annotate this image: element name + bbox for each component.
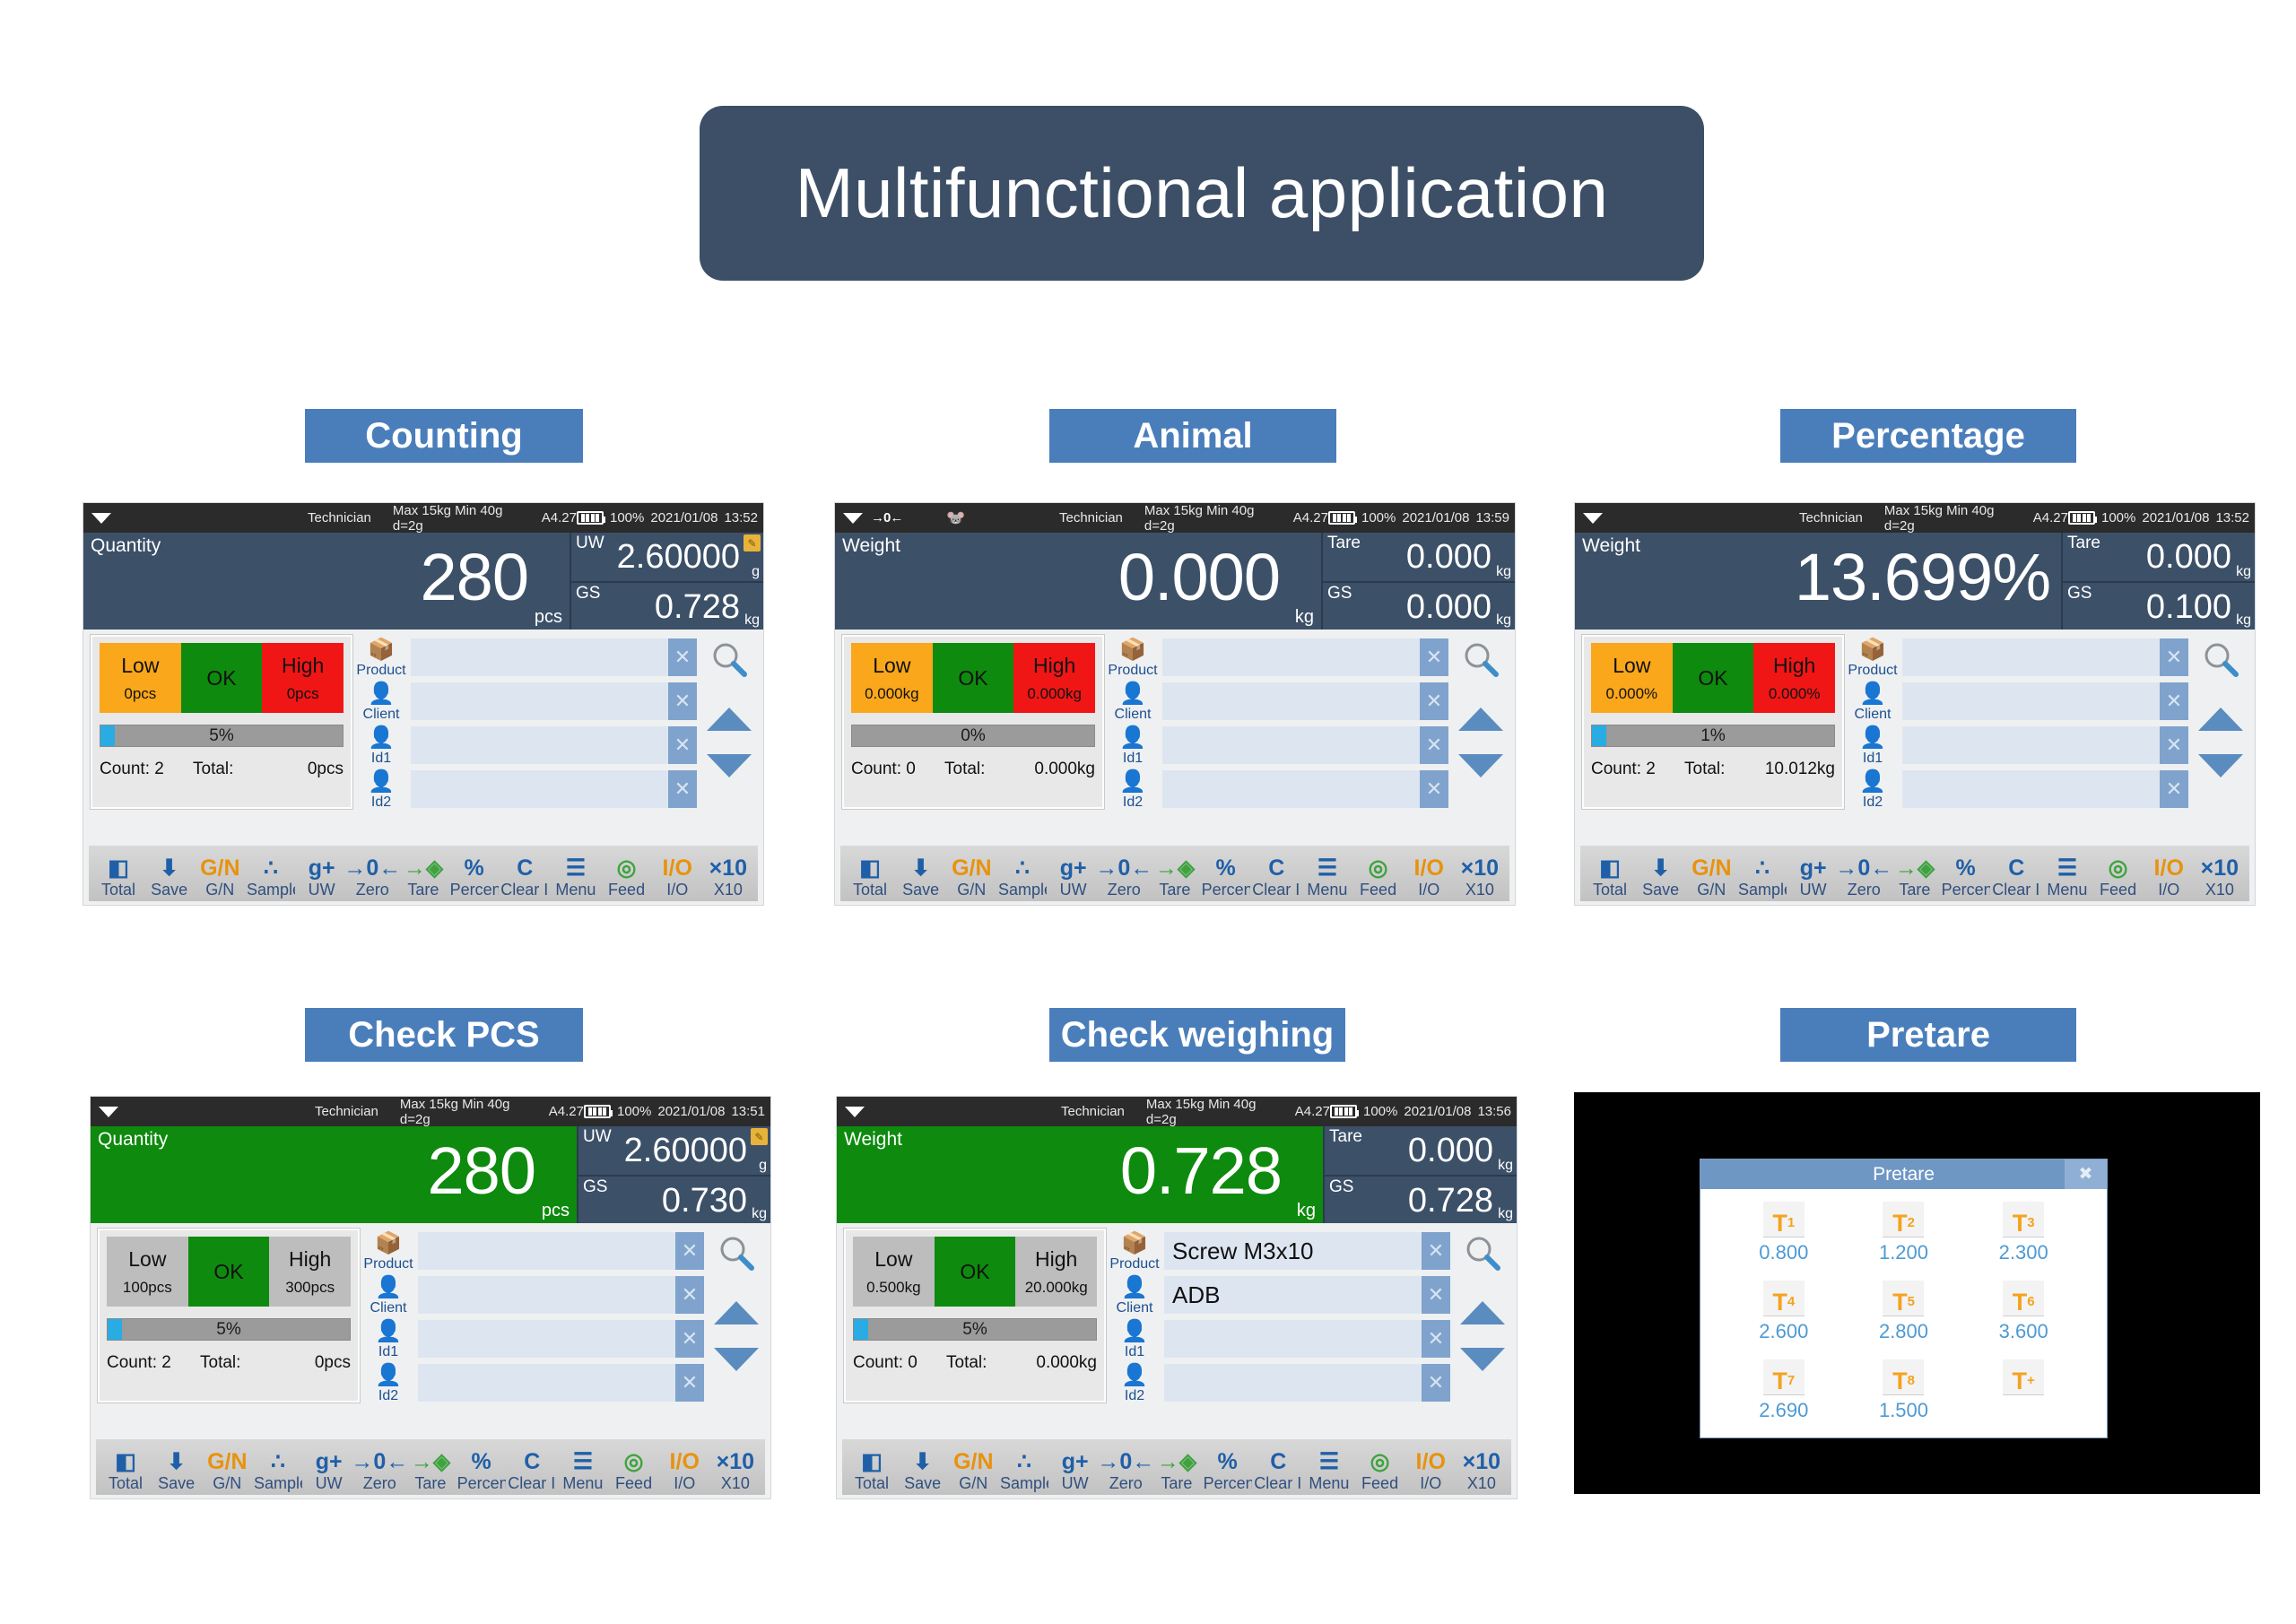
toolbar-button-percent[interactable]: %Percent [450, 855, 499, 899]
toolbar-button-save[interactable]: ⬇Save [1637, 855, 1685, 899]
uw-icon: g+ [1051, 1448, 1100, 1475]
toolbar-button-io[interactable]: I/OI/O [1405, 855, 1453, 899]
save-icon: ⬇ [899, 1448, 947, 1475]
pretare-value: 2.300 [1999, 1241, 2048, 1264]
arrow-down-icon[interactable] [1458, 754, 1503, 777]
sample-icon: ∴ [1000, 1448, 1048, 1475]
clear-id-icon: C [508, 1448, 556, 1475]
primary-readout: Weight0.728kg [837, 1126, 1323, 1223]
readout-side-key: GS [576, 584, 600, 604]
toolbar-button-zero[interactable]: →0←Zero [1101, 1448, 1150, 1492]
person-icon: 👤Client [354, 681, 408, 722]
toolbar-button-tare[interactable]: →◈Tare [1151, 855, 1199, 899]
id-row: 📦Product✕ [354, 637, 697, 678]
total-value: 0.000kg [1034, 760, 1095, 779]
bottom-toolbar: ◧Total⬇SaveG/NG/N∴Sampleg+UW→0←Zero→◈Tar… [842, 1439, 1511, 1495]
section-label-animal: Animal [1049, 409, 1336, 463]
status-version: A4.27 [1295, 1104, 1330, 1119]
toolbar-button-percent[interactable]: %Percent [1204, 1448, 1252, 1492]
id-input-id1[interactable]: ✕ [1902, 726, 2188, 764]
status-version: A4.27 [2033, 510, 2068, 525]
search-icon[interactable] [717, 1234, 756, 1278]
person-icon-glyph: 👤 [1846, 769, 1900, 792]
id-input-product[interactable]: ✕ [1902, 638, 2188, 676]
pretare-button-tplus[interactable]: T+ [2003, 1359, 2044, 1395]
arrow-down-icon[interactable] [707, 754, 752, 777]
id-input-id2[interactable]: ✕ [1164, 1364, 1450, 1402]
clear-icon[interactable]: ✕ [1420, 770, 1448, 808]
person-icon: 👤Client [361, 1274, 415, 1316]
toolbar-button-clear-id[interactable]: CClear ID [508, 1448, 556, 1492]
toolbar-button-io[interactable]: I/OI/O [660, 1448, 709, 1492]
id-list: 📦Product✕👤Client✕👤Id1✕👤Id2✕ [1846, 635, 2188, 809]
primary-readout: Quantity280pcs [83, 533, 570, 630]
toolbar-button-total[interactable]: ◧Total [101, 1448, 150, 1492]
clear-icon[interactable]: ✕ [1420, 682, 1448, 720]
toolbar-button-menu[interactable]: ☰Menu [559, 1448, 607, 1492]
clear-icon[interactable]: ✕ [668, 726, 697, 764]
check-high-label: High [289, 1247, 331, 1272]
toolbar-button-gn[interactable]: G/NG/N [1687, 855, 1735, 899]
search-icon[interactable] [1463, 1234, 1502, 1278]
check-limits: Low100pcsOKHigh300pcs [107, 1237, 351, 1307]
status-time: 13:56 [1477, 1104, 1511, 1119]
toolbar-button-feed[interactable]: ◎Feed [603, 855, 651, 899]
readout-side-row: GS0.728kg [571, 581, 763, 630]
toolbar-button-label: X10 [2196, 881, 2244, 899]
toolbar-button-percent[interactable]: %Percent [457, 1448, 506, 1492]
pretare-value: 1.200 [1879, 1241, 1928, 1264]
readout-side-value: 0.730 [662, 1177, 747, 1225]
toolbar-button-label: Feed [1356, 1475, 1405, 1492]
check-ok[interactable]: OK [188, 1237, 270, 1307]
total-value: 0pcs [308, 760, 344, 779]
check-low[interactable]: Low100pcs [107, 1237, 188, 1307]
id-row-label: Client [354, 707, 408, 723]
pretare-cell: T81.500 [1844, 1359, 1964, 1422]
id-row-label: Client [361, 1300, 415, 1316]
check-ok[interactable]: OK [1673, 643, 1754, 713]
clear-icon[interactable]: ✕ [1422, 1232, 1450, 1270]
id-input-product[interactable]: ✕ [1162, 638, 1448, 676]
status-bar-right: 100%2021/01/0813:51 [584, 1104, 770, 1119]
primary-readout-unit: kg [1295, 607, 1314, 628]
id-input-client[interactable]: ✕ [1162, 682, 1448, 720]
id-input-client[interactable]: ✕ [411, 682, 697, 720]
status-date: 2021/01/08 [650, 510, 717, 525]
check-ok[interactable]: OK [181, 643, 263, 713]
readout-side-unit: kg [1496, 564, 1511, 580]
arrow-up-icon[interactable] [714, 1301, 759, 1324]
progress-bar-label: 1% [1700, 726, 1725, 746]
readout-side-row: GS0.000kg [1323, 581, 1515, 630]
clear-icon[interactable]: ✕ [1422, 1276, 1450, 1314]
readout-side-key: Tare [1329, 1127, 1362, 1147]
pretare-button-t8[interactable]: T8 [1883, 1359, 1924, 1395]
toolbar-button-feed[interactable]: ◎Feed [2094, 855, 2143, 899]
clear-icon[interactable]: ✕ [1420, 726, 1448, 764]
close-icon[interactable]: ✖ [2065, 1159, 2107, 1189]
pretare-button-t5[interactable]: T5 [1883, 1281, 1924, 1316]
toolbar-button-sample[interactable]: ∴Sample [254, 1448, 302, 1492]
toolbar-button-uw[interactable]: g+UW [305, 1448, 353, 1492]
readout-side-row: GS0.100kg [2063, 581, 2255, 630]
toolbar-button-menu[interactable]: ☰Menu [552, 855, 600, 899]
clear-icon[interactable]: ✕ [668, 682, 697, 720]
primary-readout-label: Weight [842, 535, 900, 557]
clear-id-icon: C [1992, 855, 2040, 881]
toolbar-button-label: Sample [247, 881, 295, 899]
id-row: 👤Client✕ [1846, 681, 2188, 722]
person-icon-glyph: 👤 [1106, 681, 1160, 704]
stability-icon [843, 513, 863, 524]
pretare-button-t3[interactable]: T3 [2003, 1202, 2044, 1238]
id-input-product[interactable]: ✕ [418, 1232, 704, 1270]
count-label: Count: 0 [851, 760, 944, 779]
toolbar-button-label: G/N [947, 881, 996, 899]
section-label-text: Animal [1133, 416, 1252, 456]
uw-icon: g+ [1049, 855, 1098, 881]
toolbar-button-save[interactable]: ⬇Save [145, 855, 194, 899]
clear-icon[interactable]: ✕ [675, 1320, 704, 1358]
menu-icon: ☰ [1305, 1448, 1353, 1475]
clear-icon[interactable]: ✕ [675, 1364, 704, 1402]
search-icon[interactable] [2201, 640, 2240, 684]
toolbar-button-save[interactable]: ⬇Save [152, 1448, 201, 1492]
clear-icon[interactable]: ✕ [2160, 726, 2188, 764]
toolbar-button-io[interactable]: I/OI/O [1406, 1448, 1455, 1492]
clear-icon[interactable]: ✕ [2160, 638, 2188, 676]
toolbar-button-total[interactable]: ◧Total [846, 855, 894, 899]
toolbar-button-x10[interactable]: ×10X10 [2196, 855, 2244, 899]
id-input-value: Screw M3x10 [1172, 1238, 1314, 1265]
toolbar-button-io[interactable]: I/OI/O [2144, 855, 2193, 899]
id-row-label: Client [1108, 1300, 1161, 1316]
toolbar-button-zero[interactable]: →0←Zero [1100, 855, 1148, 899]
toolbar-button-percent[interactable]: %Percent [1202, 855, 1250, 899]
battery-icon [577, 511, 604, 525]
toolbar-button-label: UW [1789, 881, 1838, 899]
toolbar-button-label: Zero [1101, 1475, 1150, 1492]
toolbar-button-x10[interactable]: ×10X10 [711, 1448, 760, 1492]
check-low[interactable]: Low0.500kg [853, 1237, 935, 1307]
person-icon: 👤Id2 [354, 769, 408, 810]
check-low[interactable]: Low0pcs [100, 643, 181, 713]
section-label-counting: Counting [305, 409, 583, 463]
id-input-id1[interactable]: ✕ [1162, 726, 1448, 764]
toolbar-button-label: Zero [355, 1475, 404, 1492]
status-user: Technician [1061, 1104, 1125, 1119]
id-input-client[interactable]: ADB✕ [1164, 1276, 1450, 1314]
primary-readout: Weight0.000kg [835, 533, 1321, 630]
arrow-down-icon[interactable] [1460, 1348, 1505, 1371]
status-battery-percent: 100% [2101, 510, 2135, 525]
toolbar-button-uw[interactable]: g+UW [1789, 855, 1838, 899]
clear-id-icon: C [1254, 1448, 1302, 1475]
arrow-down-icon[interactable] [714, 1348, 759, 1371]
x10-icon: ×10 [704, 855, 752, 881]
side-controls [1452, 1229, 1513, 1403]
toolbar-button-tare[interactable]: →◈Tare [1152, 1448, 1201, 1492]
toolbar-button-label: X10 [1456, 881, 1504, 899]
toolbar-button-menu[interactable]: ☰Menu [2043, 855, 2092, 899]
check-low-label: Low [128, 1247, 166, 1272]
clear-icon[interactable]: ✕ [2160, 682, 2188, 720]
io-icon: I/O [660, 1448, 709, 1475]
check-ok[interactable]: OK [935, 1237, 1016, 1307]
arrow-up-icon[interactable] [1458, 708, 1503, 731]
toolbar-button-uw[interactable]: g+UW [1051, 1448, 1100, 1492]
check-high-value: 20.000kg [1025, 1279, 1088, 1297]
person-icon: 👤Id2 [1108, 1362, 1161, 1403]
toolbar-button-clear-id[interactable]: CClear ID [1992, 855, 2040, 899]
io-icon: I/O [2144, 855, 2193, 881]
check-high[interactable]: High0pcs [262, 643, 344, 713]
toolbar-button-x10[interactable]: ×10X10 [1456, 855, 1504, 899]
toolbar-button-label: I/O [660, 1475, 709, 1492]
toolbar-button-save[interactable]: ⬇Save [897, 855, 945, 899]
readout-side-key: GS [1327, 584, 1352, 604]
status-version: A4.27 [549, 1104, 584, 1119]
toolbar-button-total[interactable]: ◧Total [94, 855, 143, 899]
package-icon: 📦Product [361, 1230, 415, 1272]
status-battery-percent: 100% [1363, 1104, 1397, 1119]
id-input-client[interactable]: ✕ [1902, 682, 2188, 720]
progress-bar-fill [100, 725, 115, 746]
id-row: 📦Product✕ [1106, 637, 1448, 678]
progress-bar-fill [1592, 725, 1606, 746]
pretare-button-t2[interactable]: T2 [1883, 1202, 1924, 1238]
id-input-id2[interactable]: ✕ [411, 770, 697, 808]
id-row-label: Product [1846, 663, 1900, 679]
arrow-up-icon[interactable] [2198, 708, 2243, 731]
arrow-up-icon[interactable] [1460, 1301, 1505, 1324]
check-group: Low100pcsOKHigh300pcs5%Count: 2Total:0pc… [98, 1229, 360, 1403]
id-row: 👤Id2✕ [1108, 1362, 1450, 1403]
status-version: A4.27 [1293, 510, 1328, 525]
check-high[interactable]: High0.000% [1753, 643, 1835, 713]
pretare-button-t6[interactable]: T6 [2003, 1281, 2044, 1316]
toolbar-button-zero[interactable]: →0←Zero [348, 855, 396, 899]
clear-icon[interactable]: ✕ [1422, 1364, 1450, 1402]
secondary-readout: UW2.60000g✎GS0.730kg [577, 1126, 770, 1223]
package-icon-glyph: 📦 [1846, 637, 1900, 660]
toolbar-button-clear-id[interactable]: CClear ID [1252, 855, 1300, 899]
arrow-up-icon[interactable] [707, 708, 752, 731]
clear-icon[interactable]: ✕ [1420, 638, 1448, 676]
id-row: 📦Product✕ [1846, 637, 2188, 678]
check-low[interactable]: Low0.000kg [851, 643, 933, 713]
person-icon: 👤Id2 [361, 1362, 415, 1403]
feed-icon: ◎ [610, 1448, 658, 1475]
person-icon-glyph: 👤 [354, 725, 408, 748]
side-controls [699, 635, 760, 809]
readout: Weight0.000kgTare0.000kgGS0.000kg [835, 533, 1515, 630]
pretare-value: 3.600 [1999, 1320, 2048, 1343]
check-ok-label: OK [213, 1260, 243, 1284]
toolbar-button-sample[interactable]: ∴Sample [1000, 1448, 1048, 1492]
id-input-id1[interactable]: ✕ [1164, 1320, 1450, 1358]
pretare-button-t4[interactable]: T4 [1763, 1281, 1805, 1316]
toolbar-button-total[interactable]: ◧Total [1586, 855, 1634, 899]
toolbar-button-clear-id[interactable]: CClear ID [500, 855, 549, 899]
percent-icon: % [1202, 855, 1250, 881]
person-icon-glyph: 👤 [1106, 769, 1160, 792]
toolbar-button-label: UW [1051, 1475, 1100, 1492]
toolbar-button-gn[interactable]: G/NG/N [203, 1448, 251, 1492]
id-input-id2[interactable]: ✕ [1902, 770, 2188, 808]
check-high[interactable]: High300pcs [269, 1237, 351, 1307]
clear-icon[interactable]: ✕ [2160, 770, 2188, 808]
toolbar-button-menu[interactable]: ☰Menu [1305, 1448, 1353, 1492]
battery-icon [1328, 511, 1355, 525]
person-icon-glyph: 👤 [1108, 1274, 1161, 1298]
sample-icon: ∴ [254, 1448, 302, 1475]
pretare-button-index: 2 [1908, 1210, 1915, 1237]
person-icon-glyph: 👤 [1108, 1318, 1161, 1342]
toolbar-button-io[interactable]: I/OI/O [653, 855, 701, 899]
toolbar-button-feed[interactable]: ◎Feed [610, 1448, 658, 1492]
toolbar-button-sample[interactable]: ∴Sample [1738, 855, 1787, 899]
clear-icon[interactable]: ✕ [1422, 1320, 1450, 1358]
id-row: 👤Id2✕ [354, 769, 697, 810]
status-battery-percent: 100% [617, 1104, 651, 1119]
id-list: 📦Product✕👤Client✕👤Id1✕👤Id2✕ [1106, 635, 1448, 809]
sample-icon: ∴ [247, 855, 295, 881]
toolbar-button-uw[interactable]: g+UW [1049, 855, 1098, 899]
search-icon[interactable] [1461, 640, 1500, 684]
toolbar-button-x10[interactable]: ×10X10 [1457, 1448, 1506, 1492]
id-input-client[interactable]: ✕ [418, 1276, 704, 1314]
clear-icon[interactable]: ✕ [675, 1276, 704, 1314]
pretare-button-t1[interactable]: T1 [1763, 1202, 1805, 1238]
toolbar-button-zero[interactable]: →0←Zero [1839, 855, 1888, 899]
toolbar-button-tare[interactable]: →◈Tare [406, 1448, 455, 1492]
pretare-dialog-title: Pretare [1873, 1164, 1935, 1185]
toolbar-button-label: Total [101, 1475, 150, 1492]
edit-pen-icon[interactable]: ✎ [751, 1128, 768, 1145]
toolbar-button-x10[interactable]: ×10X10 [704, 855, 752, 899]
readout-side-key: GS [583, 1177, 607, 1197]
toolbar-button-label: Clear ID [1252, 881, 1300, 899]
pretare-dialog-titlebar: Pretare ✖ [1700, 1159, 2107, 1189]
stability-icon [91, 513, 111, 524]
clear-icon[interactable]: ✕ [675, 1232, 704, 1270]
toolbar-button-feed[interactable]: ◎Feed [1354, 855, 1403, 899]
pretare-button-index: + [2027, 1368, 2035, 1394]
stability-icon [99, 1107, 118, 1117]
totals-row: Count: 0Total:0.000kg [851, 760, 1095, 779]
status-date: 2021/01/08 [657, 1104, 725, 1119]
tare-icon: →◈ [1152, 1448, 1201, 1475]
section-label-percentage: Percentage [1780, 409, 2076, 463]
device-body: Low0.000kgOKHigh0.000kg0%Count: 0Total:0… [835, 630, 1515, 809]
x10-icon: ×10 [1457, 1448, 1506, 1475]
toolbar-button-gn[interactable]: G/NG/N [947, 855, 996, 899]
toolbar-button-label: Save [1637, 881, 1685, 899]
toolbar-button-tare[interactable]: →◈Tare [1891, 855, 1939, 899]
toolbar-button-label: Save [152, 1475, 201, 1492]
device-body: Low0pcsOKHigh0pcs5%Count: 2Total:0pcs📦Pr… [83, 630, 763, 809]
stability-icon [1583, 513, 1603, 524]
section-label-text: Counting [365, 416, 523, 456]
check-high[interactable]: High0.000kg [1013, 643, 1095, 713]
pretare-button-t7[interactable]: T7 [1763, 1359, 1805, 1395]
toolbar-button-menu[interactable]: ☰Menu [1303, 855, 1352, 899]
id-row: 👤Id1✕ [1108, 1318, 1450, 1359]
id-input-product[interactable]: ✕ [411, 638, 697, 676]
readout-side-row: UW2.60000g✎ [578, 1126, 770, 1175]
toolbar-button-total[interactable]: ◧Total [848, 1448, 896, 1492]
readout-side-unit: g [759, 1158, 767, 1174]
stability-icon [845, 1107, 865, 1117]
check-high-value: 0.000% [1769, 685, 1821, 703]
toolbar-button-label: Total [1586, 881, 1634, 899]
readout-side-unit: kg [1496, 612, 1511, 629]
search-icon[interactable] [709, 640, 749, 684]
toolbar-button-label: Percent [1942, 881, 1990, 899]
status-time: 13:59 [1475, 510, 1509, 525]
toolbar-button-clear-id[interactable]: CClear ID [1254, 1448, 1302, 1492]
check-group: Low0pcsOKHigh0pcs5%Count: 2Total:0pcs [91, 635, 352, 809]
readout: Quantity280pcsUW2.60000g✎GS0.728kg [83, 533, 763, 630]
readout-side-unit: g [752, 564, 760, 580]
check-ok[interactable]: OK [933, 643, 1014, 713]
check-low[interactable]: Low0.000% [1591, 643, 1673, 713]
arrow-down-icon[interactable] [2198, 754, 2243, 777]
toolbar-button-save[interactable]: ⬇Save [899, 1448, 947, 1492]
primary-readout-label: Quantity [98, 1129, 168, 1151]
toolbar-button-uw[interactable]: g+UW [298, 855, 346, 899]
device-body: Low100pcsOKHigh300pcs5%Count: 2Total:0pc… [91, 1223, 770, 1403]
clear-icon[interactable]: ✕ [668, 770, 697, 808]
toolbar-button-sample[interactable]: ∴Sample [998, 855, 1047, 899]
toolbar-button-zero[interactable]: →0←Zero [355, 1448, 404, 1492]
toolbar-button-sample[interactable]: ∴Sample [247, 855, 295, 899]
toolbar-button-gn[interactable]: G/NG/N [196, 855, 244, 899]
id-row-label: Id2 [361, 1388, 415, 1404]
id-input-id1[interactable]: ✕ [418, 1320, 704, 1358]
readout-side-key: Tare [1327, 534, 1361, 553]
pretare-dialog: Pretare ✖ T10.800T21.200T32.300T42.600T5… [1700, 1159, 2108, 1438]
primary-readout-value: 0.728 [1120, 1123, 1282, 1220]
zero-icon: →0← [355, 1448, 404, 1475]
toolbar-button-percent[interactable]: %Percent [1942, 855, 1990, 899]
toolbar-button-feed[interactable]: ◎Feed [1356, 1448, 1405, 1492]
check-ok-label: OK [206, 666, 236, 690]
id-input-id2[interactable]: ✕ [1162, 770, 1448, 808]
save-icon: ⬇ [145, 855, 194, 881]
id-list: 📦Product✕👤Client✕👤Id1✕👤Id2✕ [361, 1229, 704, 1403]
id-input-product[interactable]: Screw M3x10✕ [1164, 1232, 1450, 1270]
check-low-value: 100pcs [123, 1279, 172, 1297]
toolbar-button-tare[interactable]: →◈Tare [399, 855, 448, 899]
readout-side-value: 2.60000 [624, 1126, 747, 1175]
id-input-id2[interactable]: ✕ [418, 1364, 704, 1402]
edit-pen-icon[interactable]: ✎ [744, 534, 761, 551]
pretare-value: 2.800 [1879, 1320, 1928, 1343]
status-bar-right: 100%2021/01/0813:59 [1328, 510, 1515, 525]
clear-icon[interactable]: ✕ [668, 638, 697, 676]
percent-icon: % [1204, 1448, 1252, 1475]
check-high[interactable]: High20.000kg [1015, 1237, 1097, 1307]
toolbar-button-label: Menu [559, 1475, 607, 1492]
id-input-id1[interactable]: ✕ [411, 726, 697, 764]
tare-icon: →◈ [1891, 855, 1939, 881]
toolbar-button-gn[interactable]: G/NG/N [949, 1448, 997, 1492]
id-row-label: Id1 [1108, 1344, 1161, 1360]
check-high-label: High [1035, 1247, 1077, 1272]
